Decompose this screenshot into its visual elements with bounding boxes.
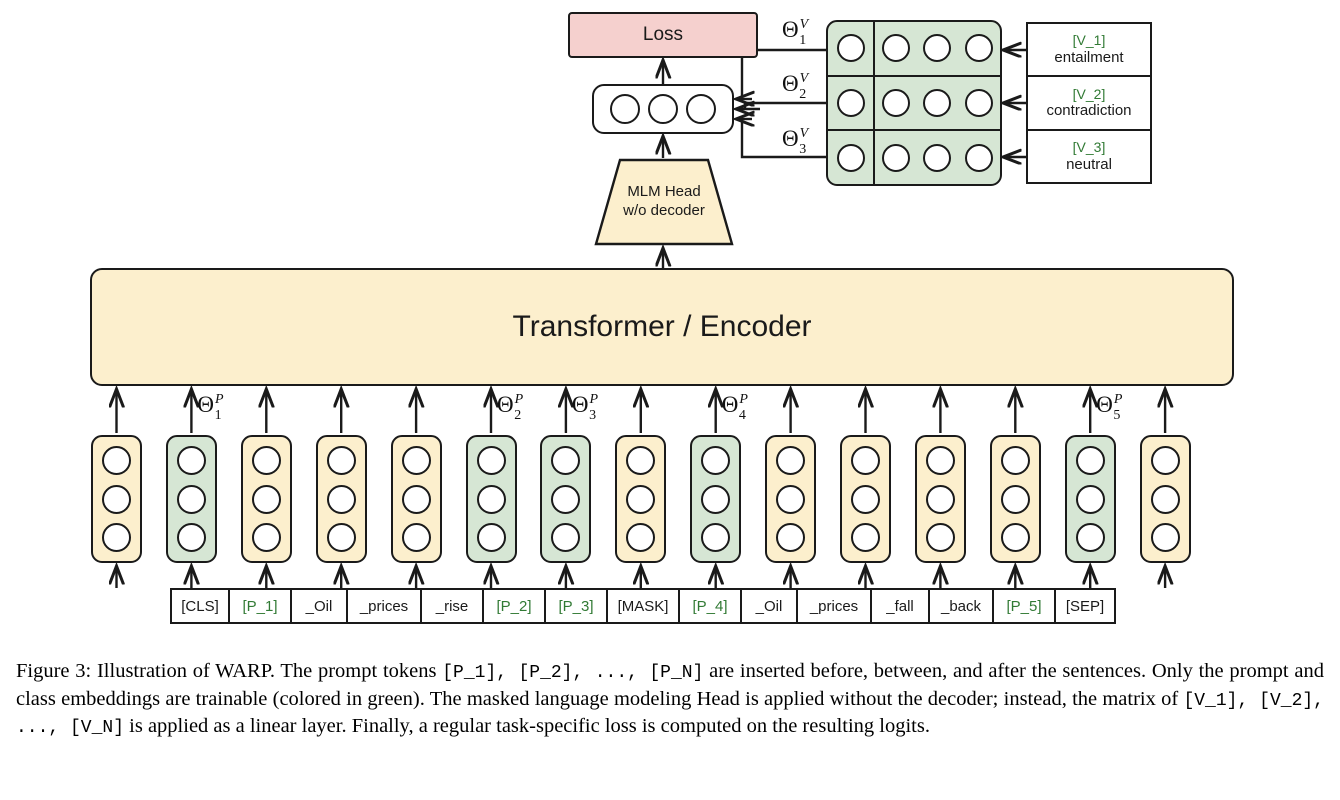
embedding-column-mask xyxy=(615,435,666,563)
embedding-column-_oil xyxy=(241,435,292,563)
embedding-column-_oil xyxy=(765,435,816,563)
embedding-column-_rise xyxy=(391,435,442,563)
embedding-node xyxy=(477,446,506,475)
theta-superscript: V xyxy=(800,126,809,141)
theta-subscript: 1 xyxy=(215,408,222,423)
embedding-node xyxy=(402,523,431,552)
token-cell-p_2[interactable]: [P_2] xyxy=(484,590,546,622)
embedding-node xyxy=(102,446,131,475)
token-cell-sep[interactable]: [SEP] xyxy=(1056,590,1114,622)
embedding-node xyxy=(252,523,281,552)
theta-prompt-3: ΘP3 xyxy=(572,392,604,418)
token-cell-cls[interactable]: [CLS] xyxy=(172,590,230,622)
theta-subscript: 3 xyxy=(589,408,596,423)
embedding-node xyxy=(102,485,131,514)
embedding-node xyxy=(327,446,356,475)
theta-superscript: V xyxy=(800,71,809,86)
theta-base: Θ xyxy=(722,392,739,417)
figure-caption: Figure 3: Illustration of WARP. The prom… xyxy=(16,658,1324,741)
theta-superscript: P xyxy=(215,392,224,407)
embedding-node xyxy=(626,446,655,475)
embedding-node xyxy=(776,485,805,514)
embedding-node xyxy=(402,446,431,475)
theta-prompt-1: ΘP1 xyxy=(197,392,229,418)
token-cell-p_3[interactable]: [P_3] xyxy=(546,590,608,622)
embedding-column-p_3 xyxy=(540,435,591,563)
theta-base: Θ xyxy=(782,71,799,96)
embedding-node xyxy=(477,485,506,514)
embedding-node xyxy=(926,485,955,514)
embedding-node xyxy=(477,523,506,552)
theta-verbalizer-2: ΘV2 xyxy=(782,71,814,97)
theta-subscript: 1 xyxy=(799,33,806,48)
theta-subscript: 4 xyxy=(739,408,746,423)
embedding-node xyxy=(402,485,431,514)
token-cell-_oil[interactable]: _Oil xyxy=(292,590,348,622)
embedding-node xyxy=(252,446,281,475)
embedding-node xyxy=(102,523,131,552)
embedding-node xyxy=(851,446,880,475)
embedding-node xyxy=(701,485,730,514)
input-token-strip: [CLS][P_1]_Oil_prices_rise[P_2][P_3][MAS… xyxy=(170,588,1116,624)
token-cell-p_1[interactable]: [P_1] xyxy=(230,590,292,622)
token-cell-mask[interactable]: [MASK] xyxy=(608,590,680,622)
caption-part-3: is applied as a linear layer. Finally, a… xyxy=(124,715,930,737)
embedding-column-p_1 xyxy=(166,435,217,563)
embedding-columns-row xyxy=(0,0,1340,650)
theta-superscript: P xyxy=(515,392,524,407)
embedding-node xyxy=(551,446,580,475)
embedding-node xyxy=(851,523,880,552)
embedding-column-p_2 xyxy=(466,435,517,563)
embedding-node xyxy=(1001,446,1030,475)
token-cell-_fall[interactable]: _fall xyxy=(872,590,930,622)
theta-superscript: P xyxy=(739,392,748,407)
theta-base: Θ xyxy=(197,392,214,417)
theta-superscript: P xyxy=(1114,392,1123,407)
token-cell-_oil[interactable]: _Oil xyxy=(742,590,798,622)
caption-prompt-tokens: [P_1], [P_2], ..., [P_N] xyxy=(442,663,703,683)
embedding-node xyxy=(327,523,356,552)
token-cell-_back[interactable]: _back xyxy=(930,590,994,622)
embedding-node xyxy=(926,523,955,552)
theta-base: Θ xyxy=(572,392,589,417)
embedding-node xyxy=(701,523,730,552)
embedding-node xyxy=(1001,485,1030,514)
embedding-node xyxy=(177,523,206,552)
token-cell-_rise[interactable]: _rise xyxy=(422,590,484,622)
token-cell-_prices[interactable]: _prices xyxy=(348,590,422,622)
embedding-column-p_4 xyxy=(690,435,741,563)
theta-prompt-2: ΘP2 xyxy=(497,392,529,418)
embedding-node xyxy=(776,446,805,475)
theta-base: Θ xyxy=(1096,392,1113,417)
embedding-node xyxy=(626,523,655,552)
embedding-column-cls xyxy=(91,435,142,563)
embedding-node xyxy=(776,523,805,552)
theta-base: Θ xyxy=(782,17,799,42)
theta-prompt-4: ΘP4 xyxy=(722,392,754,418)
theta-base: Θ xyxy=(497,392,514,417)
theta-base: Θ xyxy=(782,126,799,151)
embedding-node xyxy=(551,485,580,514)
embedding-node xyxy=(327,485,356,514)
embedding-node xyxy=(1076,446,1105,475)
embedding-node xyxy=(1151,446,1180,475)
embedding-node xyxy=(551,523,580,552)
embedding-node xyxy=(1076,485,1105,514)
token-cell-_prices[interactable]: _prices xyxy=(798,590,872,622)
theta-prompt-5: ΘP5 xyxy=(1096,392,1128,418)
embedding-column-_prices xyxy=(840,435,891,563)
caption-part-1: Figure 3: Illustration of WARP. The prom… xyxy=(16,660,442,682)
theta-subscript: 2 xyxy=(514,408,521,423)
theta-subscript: 2 xyxy=(799,87,806,102)
theta-superscript: P xyxy=(590,392,599,407)
embedding-node xyxy=(851,485,880,514)
theta-superscript: V xyxy=(800,17,809,32)
embedding-node xyxy=(1001,523,1030,552)
theta-subscript: 5 xyxy=(1113,408,1120,423)
embedding-node xyxy=(252,485,281,514)
embedding-column-sep xyxy=(1140,435,1191,563)
embedding-node xyxy=(926,446,955,475)
embedding-column-_back xyxy=(990,435,1041,563)
token-cell-p_4[interactable]: [P_4] xyxy=(680,590,742,622)
theta-verbalizer-1: ΘV1 xyxy=(782,17,814,43)
token-cell-p_5[interactable]: [P_5] xyxy=(994,590,1056,622)
embedding-node xyxy=(177,485,206,514)
warp-figure-diagram: Loss MLM Head w/o decoder Transformer / … xyxy=(0,0,1340,650)
embedding-node xyxy=(177,446,206,475)
theta-verbalizer-3: ΘV3 xyxy=(782,126,814,152)
embedding-node xyxy=(1151,485,1180,514)
embedding-node xyxy=(1151,523,1180,552)
embedding-node xyxy=(1076,523,1105,552)
embedding-column-_fall xyxy=(915,435,966,563)
embedding-column-_prices xyxy=(316,435,367,563)
embedding-node xyxy=(626,485,655,514)
embedding-column-p_5 xyxy=(1065,435,1116,563)
theta-subscript: 3 xyxy=(799,142,806,157)
embedding-node xyxy=(701,446,730,475)
